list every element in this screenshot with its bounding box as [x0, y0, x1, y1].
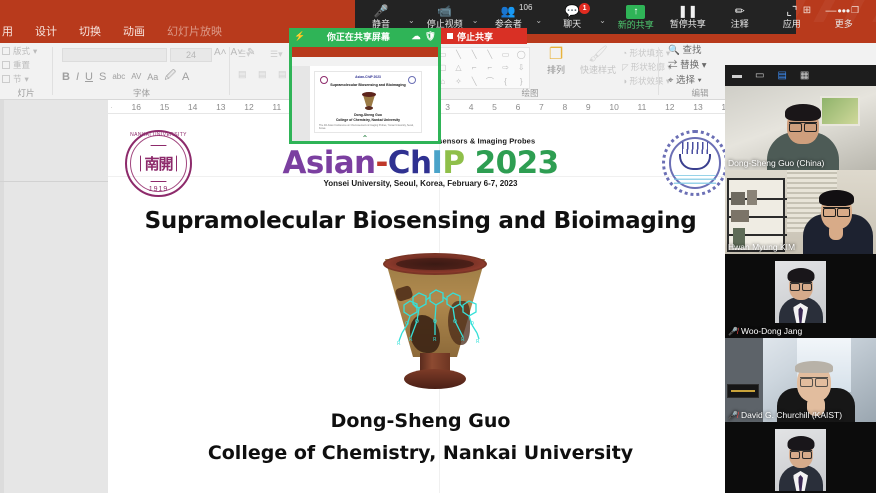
ruler-tick: 14: [188, 102, 197, 112]
video-tile-dong-sheng-guo[interactable]: Dong-Sheng Guo (China): [725, 86, 876, 170]
section-icon: [2, 75, 10, 83]
ribbon-group-font-label: 字体: [54, 87, 229, 99]
replace-icon: ⇄: [668, 60, 678, 71]
group-divider: [229, 47, 230, 95]
microphone-muted-icon: 🎤̸: [728, 327, 738, 336]
reset-label: 重置: [13, 59, 30, 71]
slide-canvas[interactable]: NANKAI UNIVERSITY 南開 1919 The 4th Asian …: [108, 114, 733, 493]
chevron-up-icon[interactable]: ⌃: [289, 134, 441, 143]
bold-button[interactable]: B: [62, 71, 70, 83]
shape-bracket-icon: ⌐: [487, 63, 492, 72]
shape-fill-icon: ◔: [622, 48, 627, 58]
cursor-select-icon: ⌖: [668, 75, 673, 86]
layout-button[interactable]: 版式 ▾: [2, 45, 52, 57]
shape-oval-icon: ◯: [517, 50, 526, 59]
search-icon: 🔍: [668, 45, 680, 56]
chat-bubble-icon: 💬: [565, 5, 580, 18]
zoom-new-share-button[interactable]: ↑ 新的共享: [610, 0, 662, 34]
ruler-tick: 3: [445, 102, 450, 112]
shape-effects-icon: ◑: [622, 76, 627, 86]
shape-arrow-icon: ╲: [472, 50, 477, 59]
stop-share-label: 停止共享: [457, 30, 493, 43]
tab-design[interactable]: 设计: [24, 22, 68, 43]
shape-gallery[interactable]: ▭ ╲ ╲ ╲ ▭ ◯ ▢ △ ⌐ ⌐ ⇨ ⇩ ⌂ ✧ ╲ ⌒ { }: [434, 47, 530, 89]
tab-slideshow[interactable]: 幻灯片放映: [156, 22, 233, 43]
sharing-status-label: 你正在共享屏幕: [309, 30, 407, 43]
preview-goblet-image: [362, 92, 376, 110]
share-preview-panel[interactable]: Asian-ChIP 2023 Supramolecular Biosensin…: [289, 44, 441, 144]
shape-triangle-icon: △: [455, 63, 461, 72]
more-ellipsis-icon: •••: [838, 5, 851, 18]
ruler-tick: 5: [492, 102, 497, 112]
video-tile-next-participant[interactable]: [725, 422, 876, 493]
align-right-icon[interactable]: ▤: [278, 69, 287, 80]
font-style-controls: B I U S abc AV Aa 🖉 A: [62, 67, 189, 86]
ruler-tick: 9: [586, 102, 591, 112]
microphone-icon: 🎤: [374, 5, 389, 18]
align-center-icon[interactable]: ▤: [258, 69, 267, 80]
reset-button[interactable]: 重置: [2, 59, 52, 71]
preview-slide-title: Supramolecular Biosensing and Bioimaging: [315, 83, 421, 87]
character-spacing-button[interactable]: AV: [131, 72, 141, 81]
share-preview-thumbnail: Asian-ChIP 2023 Supramolecular Biosensin…: [292, 47, 438, 141]
shape-left-brace-icon: {: [504, 77, 507, 86]
share-bolt-icon: ⚡: [294, 31, 305, 42]
underline-button[interactable]: U: [85, 71, 93, 83]
tab-transitions[interactable]: 切换: [68, 22, 112, 43]
change-case-button[interactable]: Aa: [147, 72, 158, 82]
section-button[interactable]: 节 ▾: [2, 73, 52, 85]
presenter-name[interactable]: Dong-Sheng Guo: [108, 410, 733, 432]
shape-pentagon-icon: ⌂: [440, 77, 445, 86]
pane-divider: [0, 181, 108, 182]
align-left-icon[interactable]: ▤: [238, 69, 247, 80]
find-button[interactable]: 🔍 查找: [668, 43, 740, 58]
chat-chevron-down-icon[interactable]: ⌄: [598, 16, 610, 34]
minimize-view-icon[interactable]: ▬: [732, 71, 742, 81]
preview-conf-title: Asian-ChIP 2023: [315, 75, 421, 79]
shape-right-brace-icon: }: [520, 77, 523, 86]
share-screen-icon: ↑: [626, 5, 645, 19]
video-view-controls: ▬ ▭ ▤ ▦: [725, 65, 876, 86]
shape-down-arrow-icon: ⇩: [518, 63, 525, 72]
video-tile-hwan-myung-kim[interactable]: Hwan Myung KIM: [725, 170, 876, 254]
cloud-recording-icon[interactable]: ☁: [412, 31, 421, 42]
microphone-muted-icon: 🎤̸: [728, 411, 738, 420]
ruler-tick: 6: [516, 102, 521, 112]
participants-icon: 👥: [501, 5, 516, 18]
slide-title[interactable]: Supramolecular Biosensing and Bioimaging: [108, 208, 733, 234]
arrange-icon: ❐: [538, 46, 574, 63]
ruler-tick: 13: [693, 102, 702, 112]
conf-title-part: -: [376, 145, 388, 181]
quick-styles-icon: 🖌: [578, 46, 618, 63]
conf-title-part: P: [442, 145, 464, 181]
conf-title-part: 2023: [464, 145, 558, 181]
zoom-more-label: 更多: [835, 19, 853, 29]
svg-text:O: O: [453, 319, 457, 325]
participant-count: 106: [519, 3, 532, 12]
active-speaker-view-icon[interactable]: ▤: [777, 71, 786, 81]
layout-icon: [2, 47, 10, 55]
stop-square-icon: [447, 33, 453, 39]
zoom-new-share-label: 新的共享: [618, 20, 654, 30]
increase-font-size-icon[interactable]: A˄: [214, 47, 227, 58]
ruler-tick: 16: [132, 102, 141, 112]
pencil-icon: ✏: [735, 5, 745, 18]
apps-icon: ⌞⌝: [786, 5, 797, 18]
svg-text:R: R: [397, 341, 401, 347]
ruler-tick: 11: [638, 102, 647, 112]
zoom-more-button[interactable]: ••• 更多: [818, 0, 870, 34]
arrange-button[interactable]: ❐ 排列: [538, 46, 574, 76]
group-divider: [52, 47, 53, 95]
pause-icon: ❚❚: [678, 5, 698, 18]
arrange-label: 排列: [547, 65, 565, 75]
ruler-tick: 15: [160, 102, 169, 112]
stop-share-button[interactable]: 停止共享: [441, 28, 527, 44]
zoom-chat-button[interactable]: 💬 聊天 1: [546, 0, 598, 34]
svg-text:O: O: [405, 321, 409, 327]
svg-text:O: O: [470, 321, 474, 327]
ribbon-group-drawing-label: 绘图: [430, 87, 630, 99]
preview-presenter: Dong-Sheng Guo: [315, 113, 421, 117]
conf-title-part: I: [431, 145, 442, 181]
svg-text:R: R: [409, 337, 413, 343]
shape-outline-icon: ◸: [622, 62, 629, 72]
decorated-goblet-calixarene-image[interactable]: OO OOO RR RRR: [380, 253, 490, 395]
ribbon-group-drawing: ▭ ╲ ╲ ╲ ▭ ◯ ▢ △ ⌐ ⌐ ⇨ ⇩ ⌂ ✧ ╲ ⌒ { } ❐: [430, 43, 630, 100]
reset-icon: [2, 61, 10, 69]
security-shield-icon[interactable]: 🛡: [425, 31, 436, 42]
presenter-affiliation[interactable]: College of Chemistry, Nankai University: [108, 442, 733, 464]
screen: ⚠ calixer206@outlook.com C ⊞ — ❐ 用 设计 切换…: [0, 0, 876, 493]
conf-title-part: sian: [306, 145, 376, 181]
ruler-tick: 12: [244, 102, 253, 112]
font-size-value: 24: [186, 50, 196, 60]
slide-thumbnail-pane[interactable]: [0, 100, 108, 493]
pane-strip: [0, 100, 4, 493]
strikethrough-button[interactable]: abc: [112, 72, 125, 81]
participant-avatar: [775, 429, 826, 491]
participants-chevron-down-icon[interactable]: ⌄: [534, 16, 546, 34]
ruler-tick: 7: [539, 102, 544, 112]
shape-arc-icon: ⌒: [486, 76, 494, 87]
ribbon-group-font: 24 A˄ A˅ ✎ B I U S abc AV Aa 🖉 A 字体: [54, 43, 229, 100]
preview-affiliation: College of Chemistry, Nankai University: [315, 118, 421, 122]
select-label: 选择: [676, 75, 695, 86]
section-label: 节: [13, 73, 22, 85]
shape-elbow-icon: ╲: [487, 50, 492, 59]
video-tile-david-g-churchill[interactable]: 🎤̸ David G. Churchill (KAIST): [725, 338, 876, 422]
tab-animations[interactable]: 动画: [112, 22, 156, 43]
participant-name: Dong-Sheng Guo (China): [728, 158, 824, 168]
speaker-view-icon[interactable]: ▭: [755, 71, 764, 81]
gallery-view-icon[interactable]: ▦: [800, 71, 809, 81]
zoom-video-panel: ▬ ▭ ▤ ▦ Dong-Sheng Guo (China): [725, 65, 876, 493]
participant-avatar: [775, 261, 826, 323]
zoom-chat-label: 聊天: [563, 19, 581, 29]
shape-corner-icon: ⌐: [472, 63, 477, 72]
chevron-down-icon: ▾: [33, 46, 37, 57]
participant-name: Hwan Myung KIM: [728, 242, 795, 252]
conference-venue: Yonsei University, Seoul, Korea, Februar…: [108, 179, 733, 188]
ruler-tick: 10: [609, 102, 618, 112]
shape-line-icon: ╲: [456, 50, 461, 59]
ribbon-group-slides: 版式 ▾ 重置 节 ▾ 灯片: [0, 43, 52, 100]
layout-label: 版式: [13, 45, 30, 57]
participant-name: 🎤̸ Woo-Dong Jang: [728, 326, 802, 336]
zoom-apps-label: 应用: [783, 19, 801, 29]
svg-text:R: R: [476, 339, 480, 345]
shadow-button[interactable]: S: [99, 71, 106, 83]
conf-title-part: Ch: [388, 145, 432, 181]
group-divider: [658, 47, 659, 95]
svg-text:O: O: [433, 319, 437, 325]
replace-label: 替换: [680, 60, 699, 71]
participant-name: 🎤̸ David G. Churchill (KAIST): [728, 410, 842, 420]
svg-text:R: R: [433, 337, 437, 343]
calixarene-molecule-overlay: OO OOO RR RRR: [380, 253, 490, 395]
zoom-pause-share-label: 暂停共享: [670, 19, 706, 29]
shape-star-icon: ✧: [455, 77, 462, 86]
text-highlight-icon[interactable]: 🖉: [164, 67, 176, 86]
svg-text:R: R: [461, 337, 465, 343]
bullets-icon[interactable]: ☰▾: [238, 49, 251, 60]
ruler-tick: 13: [216, 102, 225, 112]
find-label: 查找: [682, 45, 701, 56]
shape-curve-icon: ╲: [472, 77, 477, 86]
chat-unread-badge: 1: [579, 3, 590, 14]
quick-styles-label: 快速样式: [580, 65, 616, 75]
shape-rect-icon: ▭: [502, 50, 510, 59]
preview-footer: The 4th Asian Conference on Chemosensors…: [319, 124, 419, 130]
zoom-annotate-button[interactable]: ✏ 注释: [714, 0, 766, 34]
ruler-tick: 8: [562, 102, 567, 112]
ruler-tick: 4: [469, 102, 474, 112]
ribbon-group-slides-label: 灯片: [0, 87, 52, 99]
zoom-pause-share-button[interactable]: ❚❚ 暂停共享: [662, 0, 714, 34]
zoom-annotate-label: 注释: [731, 19, 749, 29]
font-color-button[interactable]: A: [182, 71, 189, 83]
italic-button[interactable]: I: [76, 71, 79, 83]
chevron-down-icon: ▾: [25, 74, 29, 85]
font-name-input[interactable]: [62, 48, 167, 62]
shape-right-arrow-icon: ⇨: [502, 63, 509, 72]
tab-home-partial[interactable]: 用: [0, 22, 24, 43]
video-camera-icon: 📹: [437, 5, 452, 18]
font-size-input[interactable]: 24: [170, 48, 212, 62]
video-tile-woo-dong-jang[interactable]: 🎤̸ Woo-Dong Jang: [725, 254, 876, 338]
conference-title: Asian-ChIP 2023: [108, 145, 733, 181]
svg-text:O: O: [415, 319, 419, 325]
quick-styles-button[interactable]: 🖌 快速样式: [578, 46, 618, 76]
sharing-status-banner[interactable]: ⚡ 你正在共享屏幕 ☁ 🛡: [289, 28, 441, 44]
zoom-apps-button[interactable]: ⌞⌝ 应用: [766, 0, 818, 34]
ruler-tick: 11: [272, 102, 281, 112]
ruler-tick: 12: [665, 102, 674, 112]
conf-title-part: A: [282, 145, 305, 181]
numbering-icon[interactable]: ☰▾: [270, 49, 283, 60]
